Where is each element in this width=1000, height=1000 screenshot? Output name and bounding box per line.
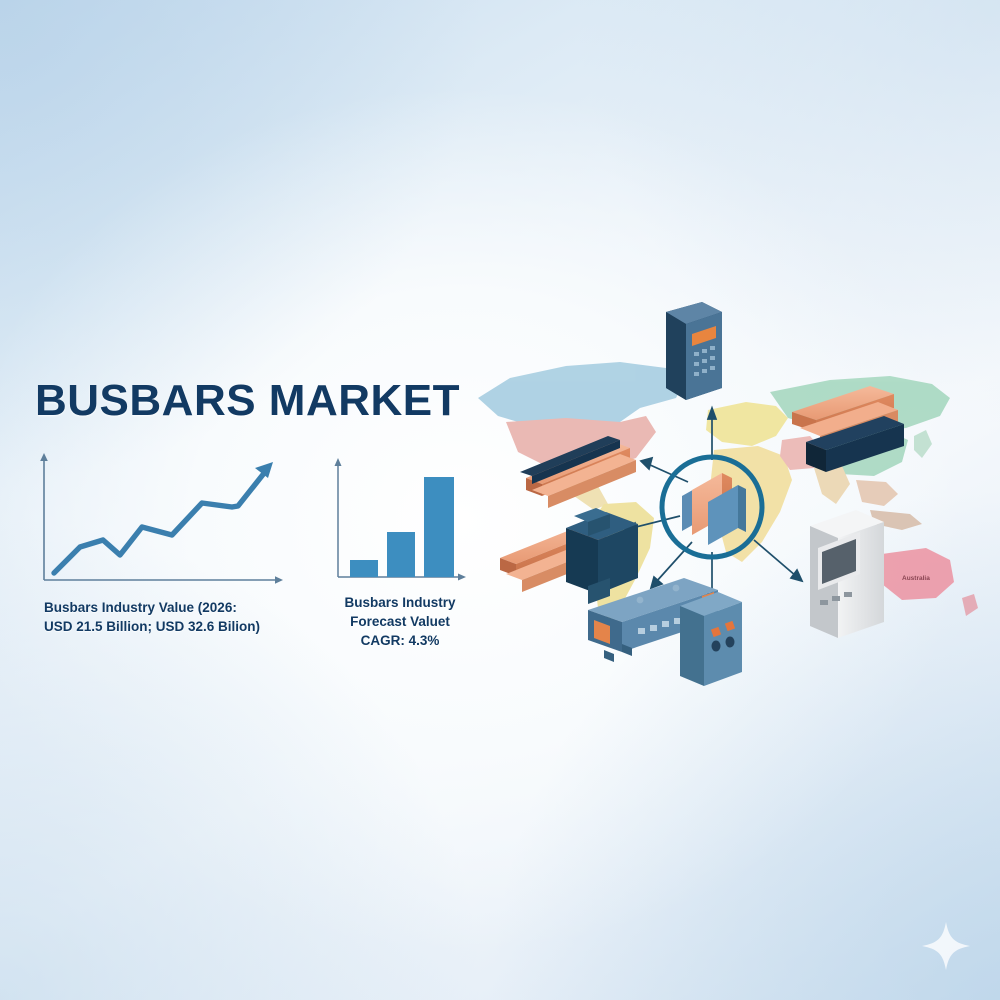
- map-region-southeast-asia: [856, 480, 898, 506]
- control-panel-device: [666, 302, 722, 400]
- blue-control-box: [680, 592, 742, 686]
- bar-chart-icon: [325, 455, 475, 590]
- line-chart-caption-line2: USD 21.5 Billion; USD 32.6 Bilion): [44, 617, 294, 636]
- bar-chart-caption-line2: Forecast Valuet: [320, 612, 480, 631]
- map-region-europe: [706, 402, 788, 446]
- map-region-japan: [914, 430, 932, 458]
- map-region-australia: [882, 548, 954, 600]
- map-region-new-zealand: [962, 594, 978, 616]
- bar-2: [387, 532, 415, 577]
- sparkle-star-icon: [920, 920, 972, 972]
- bar-1: [350, 560, 378, 577]
- upward-trend-line-icon: [30, 450, 290, 595]
- line-chart-block: Busbars Industry Value (2026: USD 21.5 B…: [30, 450, 290, 650]
- bar-chart-caption-line1: Busbars Industry: [320, 593, 480, 612]
- bar-chart-caption: Busbars Industry Forecast Valuet CAGR: 4…: [320, 593, 480, 650]
- infographic-canvas: BUSBARS MARKET Busbars Industry Value (2…: [0, 0, 1000, 1000]
- bar-chart-caption-line3: CAGR: 4.3%: [320, 631, 480, 650]
- page-title: BUSBARS MARKET: [35, 376, 460, 426]
- bar-3: [424, 477, 454, 577]
- line-chart-caption-line1: Busbars Industry Value (2026:: [44, 598, 294, 617]
- world-map-illustration: Australia: [470, 290, 1000, 690]
- bar-chart-block: Busbars Industry Forecast Valuet CAGR: 4…: [325, 455, 475, 650]
- map-label-australia: Australia: [902, 575, 930, 582]
- line-chart-caption: Busbars Industry Value (2026: USD 21.5 B…: [44, 598, 294, 636]
- white-switchgear-cabinet: [810, 510, 884, 638]
